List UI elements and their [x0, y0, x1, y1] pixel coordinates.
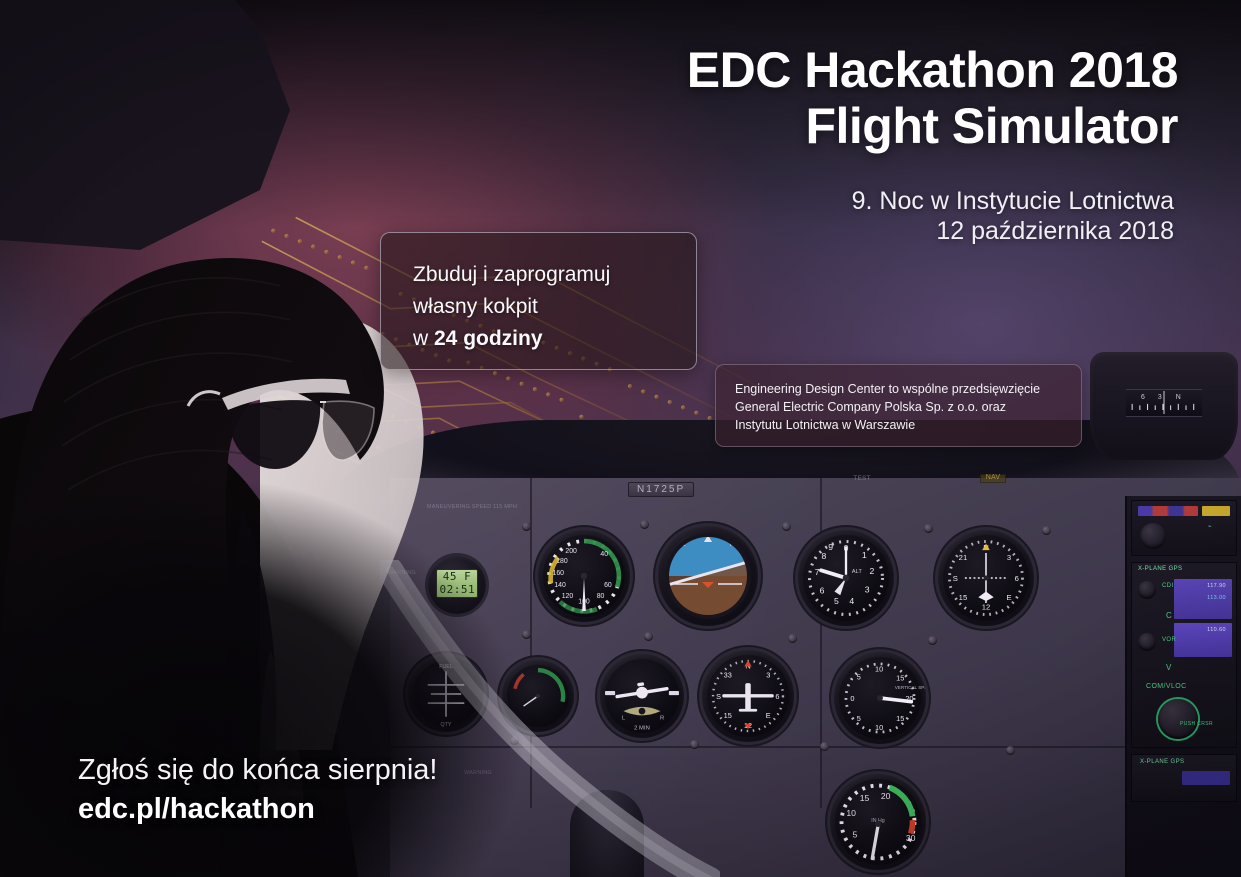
- event-subtitle: 9. Noc w Instytucie Lotnictwa 12 paździe…: [852, 186, 1174, 246]
- callout-line-3-prefix: w: [413, 327, 434, 350]
- organizer-info-box: Engineering Design Center to wspólne prz…: [715, 364, 1082, 447]
- subtitle-line-1: 9. Noc w Instytucie Lotnictwa: [852, 186, 1174, 216]
- cta-deadline-text: Zgłoś się do końca sierpnia!: [78, 752, 437, 789]
- call-to-action: Zgłoś się do końca sierpnia! edc.pl/hack…: [78, 752, 437, 829]
- callout-line-1: Zbuduj i zaprogramuj: [413, 259, 696, 291]
- title-line-1: EDC Hackathon 2018: [687, 42, 1178, 98]
- callout-line-3-emphasis: 24 godziny: [434, 327, 543, 350]
- cta-url[interactable]: edc.pl/hackathon: [78, 789, 437, 829]
- page-title: EDC Hackathon 2018 Flight Simulator: [687, 42, 1178, 154]
- title-line-2: Flight Simulator: [687, 98, 1178, 154]
- callout-line-3: w 24 godziny: [413, 323, 696, 355]
- poster-canvas: N1725P MANEUVERING SPEED 115 MPH WARNING…: [0, 0, 1241, 877]
- subtitle-line-2: 12 października 2018: [852, 216, 1174, 246]
- infobox-line-1: Engineering Design Center to wspólne prz…: [735, 380, 1081, 398]
- infobox-line-2: General Electric Company Polska Sp. z o.…: [735, 398, 1081, 416]
- challenge-callout-box: Zbuduj i zaprogramuj własny kokpit w 24 …: [380, 232, 697, 370]
- infobox-line-3: Instytutu Lotnictwa w Warszawie: [735, 416, 1081, 434]
- callout-line-2: własny kokpit: [413, 291, 696, 323]
